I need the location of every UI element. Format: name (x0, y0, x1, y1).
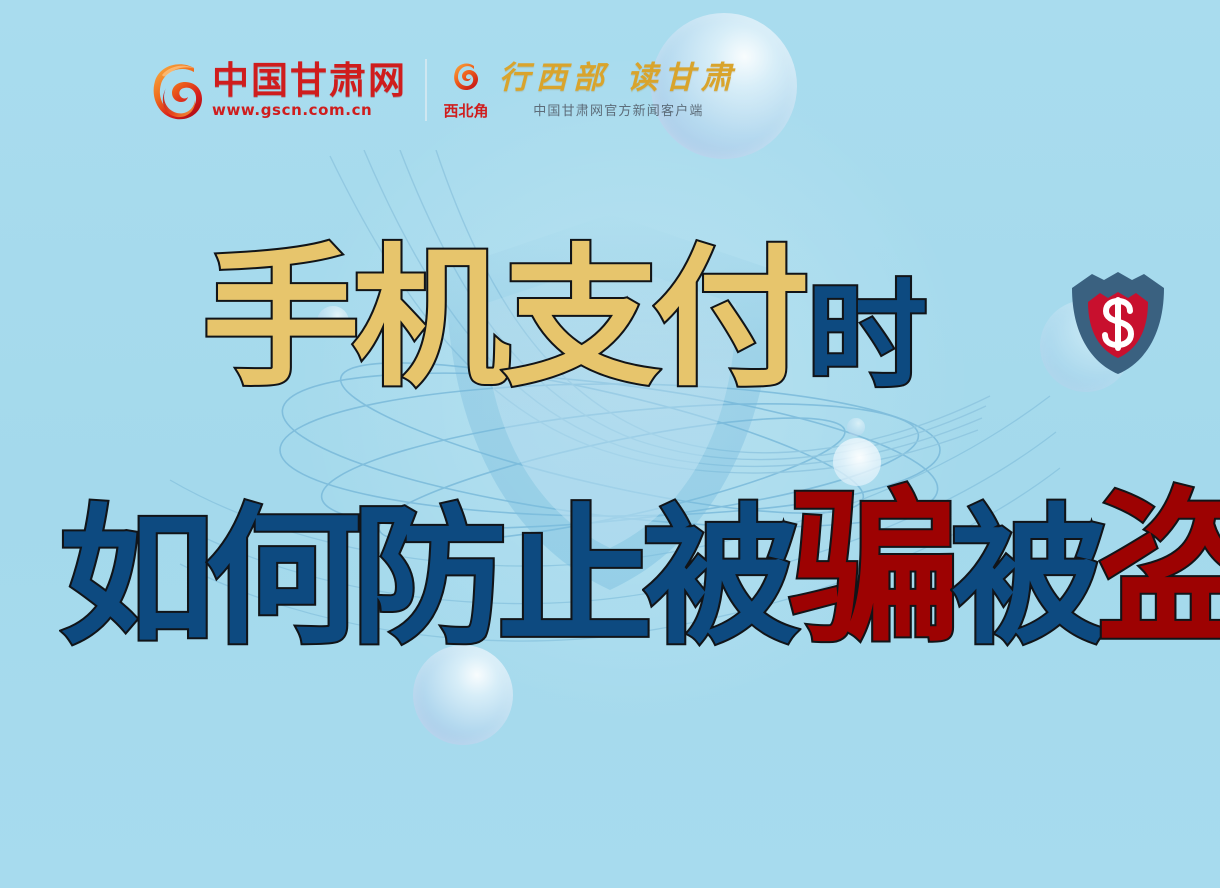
headline-char: 何 (205, 503, 357, 653)
headline-char: 被 (951, 503, 1103, 653)
dollar-shield-icon (1058, 262, 1178, 382)
headline-char: 机 (352, 243, 508, 395)
headline-block: 手 机 支 付 时 如 何 防 止 被 骗 被 盗 手机支付时 如何防止被骗被盗 (0, 0, 1220, 888)
poster-canvas: 中国甘肃网 www.gscn.com.cn 西北角 行西部 读甘肃 中国甘肃网官… (0, 0, 1220, 888)
headline-char: 付 (652, 243, 808, 395)
headline-char: 止 (497, 503, 649, 653)
headline-char: 防 (351, 503, 503, 653)
headline-char: 支 (502, 243, 658, 395)
headline-char: 骗 (789, 487, 957, 653)
headline-char: 被 (643, 503, 795, 653)
headline-char: 手 (202, 243, 358, 395)
headline-line-1-text: 手机支付时 (0, 0, 1, 1)
headline-line-2: 如 何 防 止 被 骗 被 盗 (62, 487, 1220, 653)
headline-line-2-text: 如何防止被骗被盗 (0, 0, 1, 1)
headline-char: 如 (59, 503, 211, 653)
headline-char: 时 (807, 279, 926, 395)
headline-line-1: 手 机 支 付 时 (205, 243, 923, 395)
headline-char: 盗 (1097, 487, 1220, 653)
